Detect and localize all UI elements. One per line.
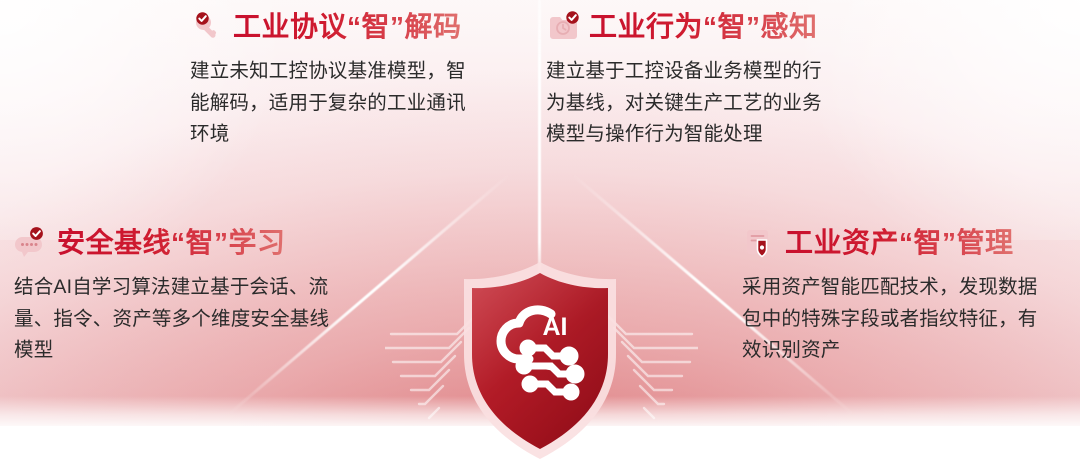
clipboard-check-icon bbox=[546, 10, 580, 44]
section-body: 采用资产智能匹配技术，发现数据包中的特殊字段或者指纹特征，有效识别资产 bbox=[742, 272, 1057, 367]
section-heading: 工业行为“智”感知 bbox=[546, 10, 866, 44]
section-body: 建立基于工控设备业务模型的行为基线，对关键生产工艺的业务模型与操作行为智能处理 bbox=[546, 56, 836, 151]
section-industrial-protocol: 工业协议“智”解码 建立未知工控协议基准模型，智能解码，适用于复杂的工业通讯环境 bbox=[190, 10, 510, 151]
document-shield-icon bbox=[742, 226, 776, 260]
section-title: 工业行为“智”感知 bbox=[589, 12, 818, 43]
section-industrial-asset: 工业资产“智”管理 采用资产智能匹配技术，发现数据包中的特殊字段或者指纹特征，有… bbox=[742, 226, 1072, 367]
section-heading: 工业资产“智”管理 bbox=[742, 226, 1072, 260]
divider-beam-vertical bbox=[538, 0, 541, 282]
section-title: 工业协议“智”解码 bbox=[233, 12, 462, 43]
key-check-icon bbox=[190, 10, 224, 44]
section-security-baseline: 安全基线“智”学习 结合AI自学习算法建立基于会话、流量、指令、资产等多个维度安… bbox=[14, 226, 354, 367]
ai-cloud-shield-emblem: AI bbox=[459, 262, 621, 459]
section-body: 结合AI自学习算法建立基于会话、流量、指令、资产等多个维度安全基线模型 bbox=[14, 272, 336, 367]
chat-bubble-check-icon bbox=[14, 226, 48, 260]
section-body: 建立未知工控协议基准模型，智能解码，适用于复杂的工业通讯环境 bbox=[190, 56, 480, 151]
emblem-ai-label: AI bbox=[543, 313, 568, 341]
infographic-canvas: AI 工业协议“智”解码 bbox=[0, 0, 1080, 459]
section-title: 工业资产“智”管理 bbox=[785, 228, 1014, 259]
section-title: 安全基线“智”学习 bbox=[57, 228, 286, 259]
section-heading: 工业协议“智”解码 bbox=[190, 10, 510, 44]
section-heading: 安全基线“智”学习 bbox=[14, 226, 354, 260]
section-industrial-behavior: 工业行为“智”感知 建立基于工控设备业务模型的行为基线，对关键生产工艺的业务模型… bbox=[546, 10, 866, 151]
